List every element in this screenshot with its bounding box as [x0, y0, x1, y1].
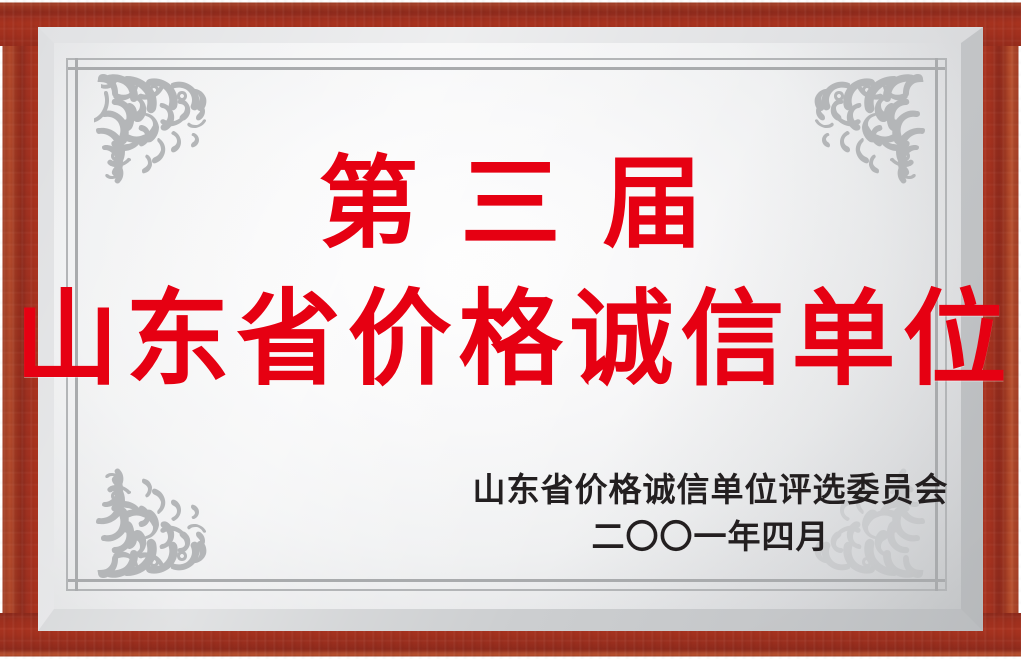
- plate-bevel: [38, 27, 983, 631]
- signature-block: 山东省价格诚信单位评选委员会 二〇〇一年四月: [0, 466, 1021, 560]
- border-line-bottom-outer: [66, 589, 947, 591]
- border-line-left-inner: [75, 58, 78, 591]
- page-title-line-2: 山东省价格诚信单位: [0, 280, 1021, 398]
- border-line-right-outer: [945, 58, 947, 591]
- signature-date: 二〇〇一年四月: [0, 513, 1021, 560]
- decorative-border: [66, 58, 947, 591]
- border-line-bottom-inner: [66, 579, 947, 582]
- corner-scroll-ornament-icon: [799, 73, 927, 191]
- award-plaque: 第三届 山东省价格诚信单位 山东省价格诚信单位评选委员会 二〇〇一年四月: [0, 0, 1021, 659]
- page-title-line-1: 第三届: [0, 148, 1021, 258]
- signature-issuer: 山东省价格诚信单位评选委员会: [0, 466, 1021, 513]
- corner-scroll-ornament-icon: [94, 461, 222, 579]
- border-line-right-inner: [935, 58, 938, 591]
- corner-scroll-ornament-icon: [799, 461, 927, 579]
- border-line-top-inner: [66, 67, 947, 70]
- border-line-top-outer: [66, 58, 947, 60]
- plaque-inner-plate: 第三届 山东省价格诚信单位 山东省价格诚信单位评选委员会 二〇〇一年四月: [38, 27, 983, 631]
- corner-scroll-ornament-icon: [94, 73, 222, 191]
- border-line-left-outer: [66, 58, 68, 591]
- plate-sheen: [38, 27, 983, 631]
- plaque-content: 第三届 山东省价格诚信单位 山东省价格诚信单位评选委员会 二〇〇一年四月: [0, 0, 1021, 659]
